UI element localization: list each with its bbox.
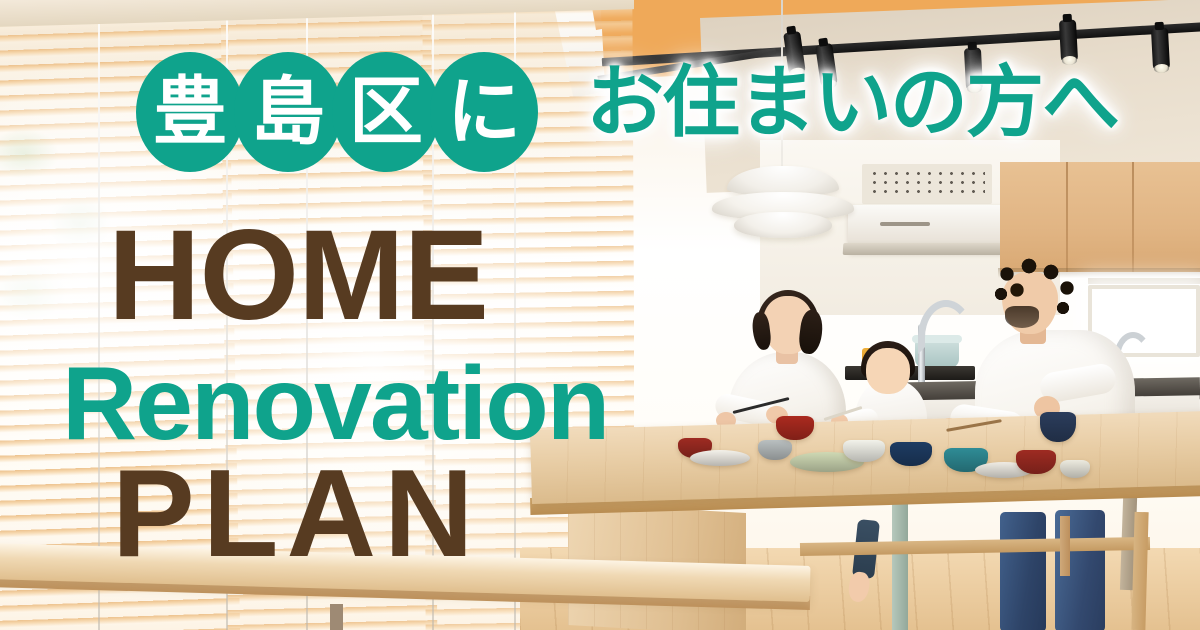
badge-ku: 区 — [332, 52, 440, 172]
title-line-plan: PLAN — [112, 452, 482, 576]
location-badge-row: 豊島区に — [136, 52, 538, 172]
title-line-home: HOME — [108, 212, 488, 340]
title-line-renovation: Renovation — [62, 352, 608, 456]
badge-ni: に — [430, 52, 538, 172]
promo-banner: 豊島区に お住まいの方へ HOME Renovation PLAN — [0, 0, 1200, 630]
badge-shima: 島 — [234, 52, 342, 172]
text-overlay: 豊島区に お住まいの方へ HOME Renovation PLAN — [0, 0, 1200, 630]
badge-toyo: 豊 — [136, 52, 244, 172]
headline-japanese: お住まいの方へ — [586, 62, 1118, 143]
